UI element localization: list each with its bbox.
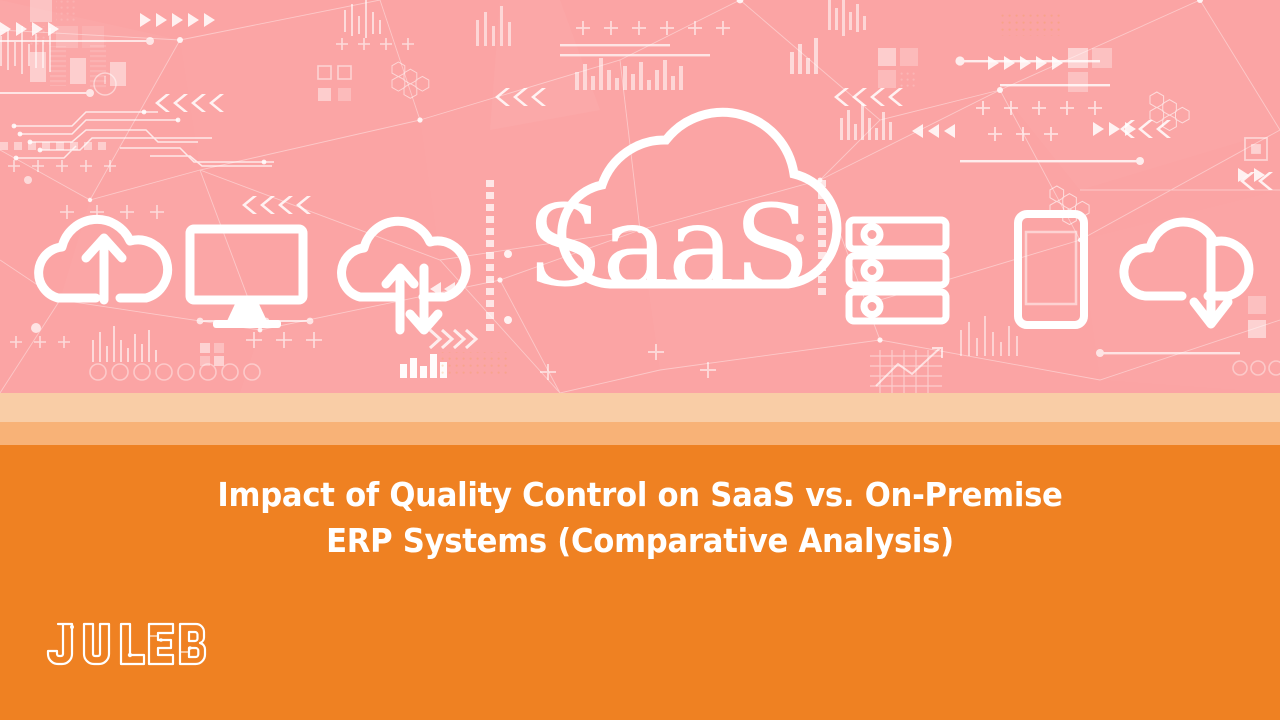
title-line-1: Impact of Quality Control on SaaS vs. On… bbox=[147, 472, 1133, 518]
juleb-logo bbox=[44, 618, 214, 670]
title-line-2: ERP Systems (Comparative Analysis) bbox=[147, 518, 1133, 564]
title-slide: SaaS bbox=[0, 0, 1280, 720]
page-title: Impact of Quality Control on SaaS vs. On… bbox=[0, 472, 1280, 564]
saas-cloud-label: SaaS bbox=[527, 182, 810, 312]
hero-banner: SaaS bbox=[0, 0, 1280, 393]
juleb-logo-wordmark bbox=[44, 618, 214, 670]
hero-tech-graphic: SaaS bbox=[0, 0, 1280, 393]
band-medium-peach bbox=[0, 422, 1280, 445]
band-light-peach bbox=[0, 393, 1280, 422]
